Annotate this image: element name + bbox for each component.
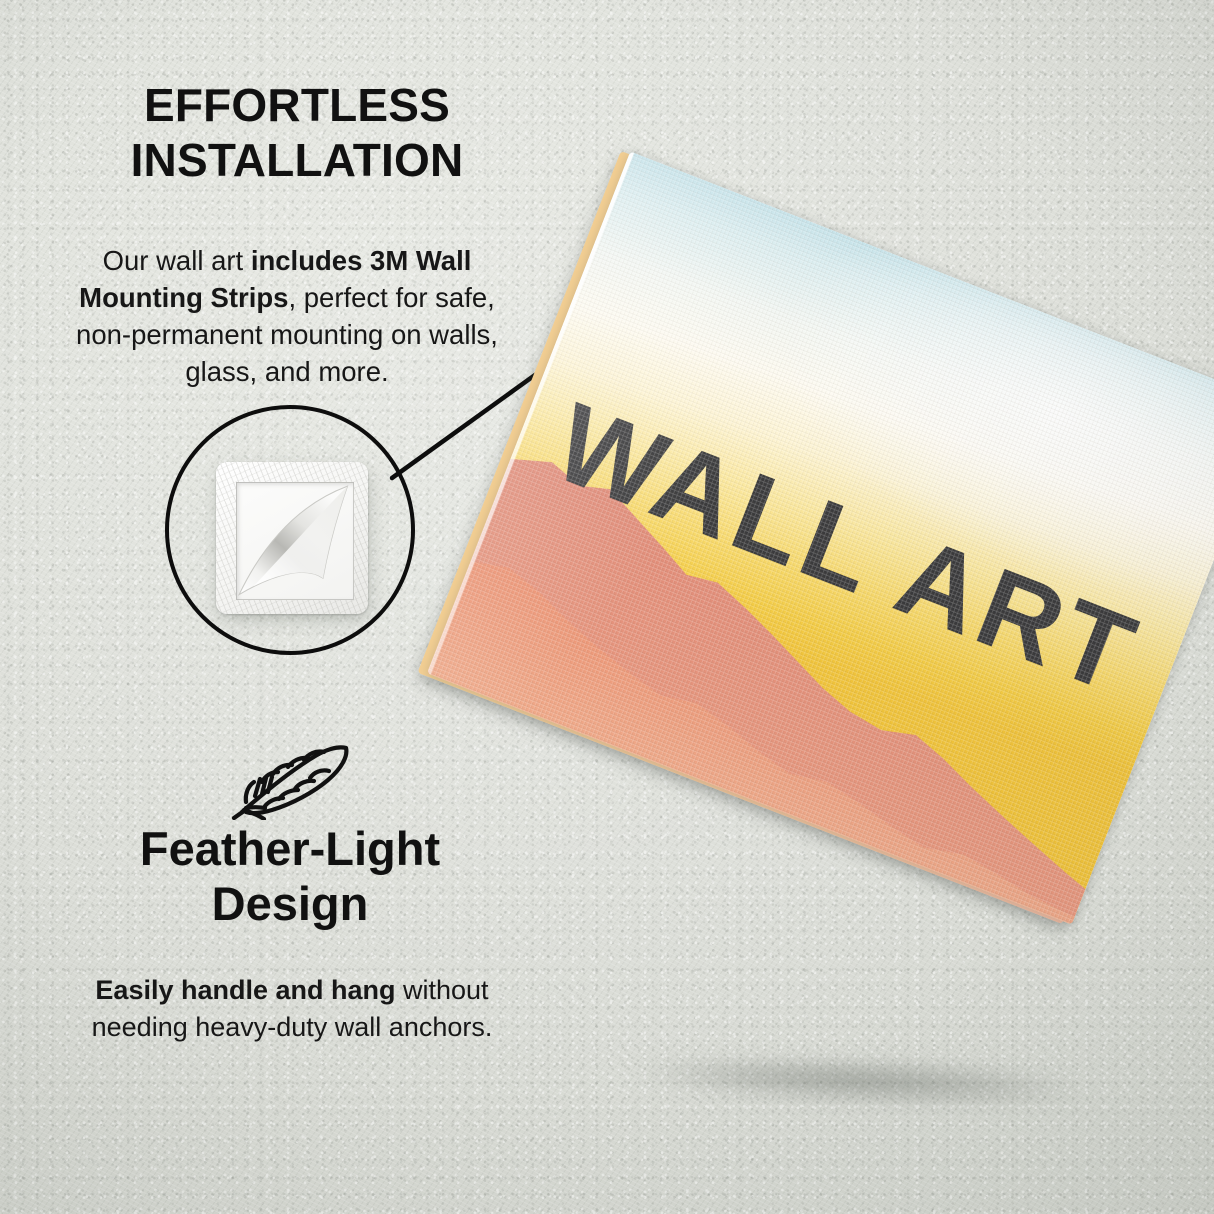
feather-heading-line2: Design: [95, 877, 485, 932]
installation-heading-line2: INSTALLATION: [62, 133, 532, 188]
installation-body-text: Our wall art includes 3M Wall Mounting S…: [52, 242, 522, 391]
feather-icon: [228, 738, 354, 820]
body-text-part1: Our wall art: [103, 245, 251, 276]
installation-heading-line1: EFFORTLESS: [144, 79, 450, 131]
strip-body: [216, 462, 368, 614]
feather-heading-line1: Feather-Light: [140, 822, 440, 875]
product-feature-image: EFFORTLESS INSTALLATION Our wall art inc…: [0, 0, 1214, 1214]
mounting-strip-callout: [165, 405, 415, 655]
strip-inner-panel: [236, 482, 354, 600]
strip-peel-corner-icon: [236, 482, 354, 600]
installation-heading: EFFORTLESS INSTALLATION: [62, 78, 532, 188]
mounting-strip-illustration: [216, 462, 368, 614]
feather-light-heading: Feather-Light Design: [95, 822, 485, 931]
caption-bold-text: Easily handle and hang: [95, 975, 395, 1005]
feather-light-caption: Easily handle and hang without needing h…: [72, 972, 512, 1047]
callout-circle-outline: [165, 405, 415, 655]
